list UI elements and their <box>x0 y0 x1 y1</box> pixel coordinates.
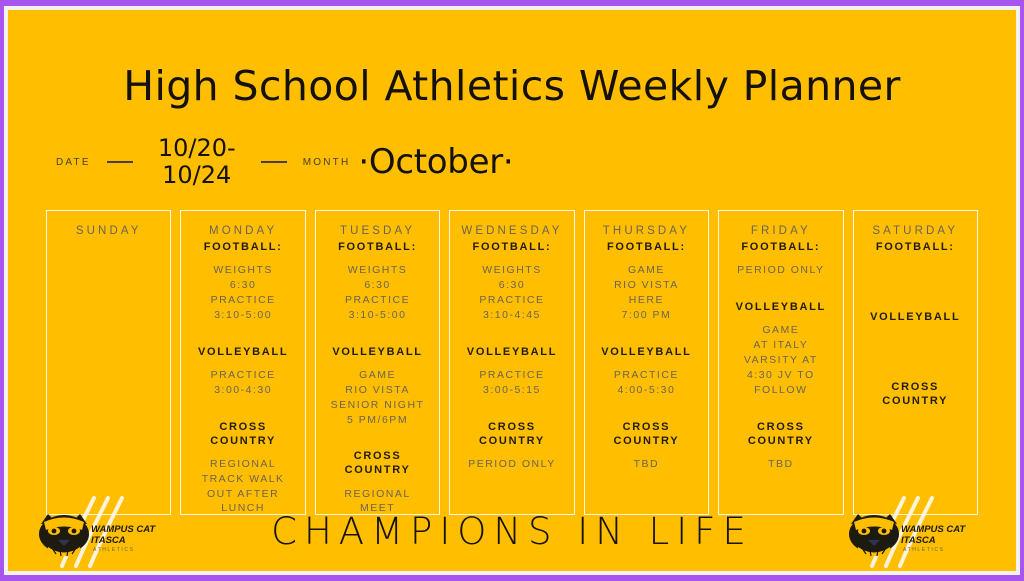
day-column-sunday[interactable]: SUNDAY <box>46 210 171 515</box>
frame-band-right <box>1020 0 1024 581</box>
block-gap <box>186 323 299 343</box>
sport-block: VOLLEYBALLPRACTICE 4:00-5:30 <box>590 343 703 418</box>
sport-detail: PRACTICE 3:00-4:30 <box>186 368 299 398</box>
sport-detail: GAME RIO VISTA HERE 7:00 PM <box>590 263 703 323</box>
day-name-label: FRIDAY <box>751 225 811 237</box>
sport-block: FOOTBALL:WEIGHTS 6:30 PRACTICE 3:10-5:00 <box>321 240 434 343</box>
block-gap <box>321 427 434 447</box>
sport-block: VOLLEYBALLGAME RIO VISTA SENIOR NIGHT 5 … <box>321 343 434 448</box>
day-column-saturday[interactable]: SATURDAYFOOTBALL:VOLLEYBALLCROSS COUNTRY <box>853 210 978 515</box>
sport-heading: FOOTBALL: <box>590 240 703 254</box>
block-gap <box>455 323 568 343</box>
day-name-label: THURSDAY <box>603 225 690 237</box>
day-column-thursday[interactable]: THURSDAYFOOTBALL:GAME RIO VISTA HERE 7:0… <box>584 210 709 515</box>
sport-heading: VOLLEYBALL <box>859 310 972 324</box>
sport-block: CROSS COUNTRY <box>859 378 972 442</box>
sport-block-empty-spacer <box>859 324 972 358</box>
sport-heading: CROSS COUNTRY <box>590 420 703 448</box>
month-label: MONTH <box>303 157 351 168</box>
sport-heading: VOLLEYBALL <box>455 345 568 359</box>
sport-block: FOOTBALL: <box>859 240 972 308</box>
sport-block: VOLLEYBALLPRACTICE 3:00-4:30 <box>186 343 299 418</box>
sport-heading: FOOTBALL: <box>186 240 299 254</box>
weekly-planner-poster: High School Athletics Weekly Planner DAT… <box>0 0 1024 581</box>
date-label: DATE <box>56 157 91 168</box>
logo-line1-text: WAMPUS CAT <box>901 524 966 535</box>
date-value: 10/20- 10/24 <box>149 135 245 189</box>
date-month-row: DATE 10/20- 10/24 MONTH ·October· <box>56 132 513 192</box>
day-column-tuesday[interactable]: TUESDAYFOOTBALL:WEIGHTS 6:30 PRACTICE 3:… <box>315 210 440 515</box>
sport-heading: CROSS COUNTRY <box>186 420 299 448</box>
logo-line3-text: ATHLETICS <box>93 547 135 553</box>
sport-block: VOLLEYBALLPRACTICE 3:00-5:15 <box>455 343 568 418</box>
sport-detail: PERIOD ONLY <box>724 263 837 278</box>
block-gap <box>859 288 972 308</box>
block-gap <box>455 398 568 418</box>
frame-band-top <box>0 0 1024 6</box>
sport-heading: CROSS COUNTRY <box>321 449 434 477</box>
month-value: ·October· <box>358 142 513 182</box>
sport-block: VOLLEYBALLGAME AT ITALY VARSITY AT 4:30 … <box>724 298 837 418</box>
sport-block: FOOTBALL:GAME RIO VISTA HERE 7:00 PM <box>590 240 703 343</box>
day-column-friday[interactable]: FRIDAYFOOTBALL:PERIOD ONLYVOLLEYBALLGAME… <box>718 210 843 515</box>
sport-heading: FOOTBALL: <box>724 240 837 254</box>
page-title: High School Athletics Weekly Planner <box>8 62 1016 110</box>
block-gap <box>590 398 703 418</box>
frame-band-bottom <box>0 575 1024 581</box>
poster-card: High School Athletics Weekly Planner DAT… <box>8 10 1016 571</box>
sport-detail: WEIGHTS 6:30 PRACTICE 3:10-5:00 <box>321 263 434 323</box>
date-divider-dash <box>107 161 133 163</box>
sport-block: FOOTBALL:WEIGHTS 6:30 PRACTICE 3:10-4:45 <box>455 240 568 343</box>
sport-heading: FOOTBALL: <box>455 240 568 254</box>
sport-block: CROSS COUNTRYTBD <box>590 418 703 472</box>
day-name-label: SATURDAY <box>872 225 958 237</box>
sport-block-empty-spacer <box>859 254 972 288</box>
sport-heading: VOLLEYBALL <box>186 345 299 359</box>
sport-heading: FOOTBALL: <box>859 240 972 254</box>
logo-line2-text: ITASCA <box>91 535 126 546</box>
block-gap <box>321 323 434 343</box>
sport-heading: VOLLEYBALL <box>321 345 434 359</box>
frame-band-left <box>0 0 4 581</box>
sport-detail: TBD <box>590 457 703 472</box>
day-name-label: TUESDAY <box>340 225 415 237</box>
logo-line1-text: WAMPUS CAT <box>91 524 156 535</box>
day-name-label: WEDNESDAY <box>461 225 562 237</box>
sport-heading: CROSS COUNTRY <box>455 420 568 448</box>
sport-block: CROSS COUNTRYPERIOD ONLY <box>455 418 568 472</box>
school-logo-left: WAMPUS CAT ITASCA ATHLETICS <box>36 496 166 570</box>
logo-line2-text: ITASCA <box>901 535 936 546</box>
sport-block: FOOTBALL:PERIOD ONLY <box>724 240 837 298</box>
sport-block-empty-spacer <box>859 408 972 442</box>
sport-detail: WEIGHTS 6:30 PRACTICE 3:10-5:00 <box>186 263 299 323</box>
sport-heading: VOLLEYBALL <box>724 300 837 314</box>
day-column-monday[interactable]: MONDAYFOOTBALL:WEIGHTS 6:30 PRACTICE 3:1… <box>180 210 305 515</box>
sport-block: FOOTBALL:WEIGHTS 6:30 PRACTICE 3:10-5:00 <box>186 240 299 343</box>
block-gap <box>724 398 837 418</box>
day-name-label: SUNDAY <box>76 225 142 237</box>
sport-heading: CROSS COUNTRY <box>724 420 837 448</box>
day-column-wednesday[interactable]: WEDNESDAYFOOTBALL:WEIGHTS 6:30 PRACTICE … <box>449 210 574 515</box>
block-gap <box>724 278 837 298</box>
sport-heading: FOOTBALL: <box>321 240 434 254</box>
sport-detail: PERIOD ONLY <box>455 457 568 472</box>
sport-detail: REGIONAL TRACK WALK OUT AFTER LUNCH <box>186 457 299 515</box>
week-grid: SUNDAYMONDAYFOOTBALL:WEIGHTS 6:30 PRACTI… <box>46 210 978 515</box>
sport-block: VOLLEYBALL <box>859 308 972 378</box>
sport-heading: CROSS COUNTRY <box>859 380 972 408</box>
sport-block: CROSS COUNTRYTBD <box>724 418 837 472</box>
block-gap <box>590 323 703 343</box>
month-divider-dash <box>261 161 287 163</box>
day-name-label: MONDAY <box>209 225 277 237</box>
block-gap <box>186 398 299 418</box>
logo-line3-text: ATHLETICS <box>903 547 945 553</box>
block-gap <box>859 358 972 378</box>
sport-detail: PRACTICE 3:00-5:15 <box>455 368 568 398</box>
sport-detail: PRACTICE 4:00-5:30 <box>590 368 703 398</box>
sport-block: CROSS COUNTRYREGIONAL TRACK WALK OUT AFT… <box>186 418 299 515</box>
sport-detail: WEIGHTS 6:30 PRACTICE 3:10-4:45 <box>455 263 568 323</box>
sport-detail: GAME RIO VISTA SENIOR NIGHT 5 PM/6PM <box>321 368 434 428</box>
sport-heading: VOLLEYBALL <box>590 345 703 359</box>
sport-block: CROSS COUNTRYREGIONAL MEET UTA GIRLS 11A… <box>321 447 434 515</box>
school-logo-right: WAMPUS CAT ITASCA ATHLETICS <box>846 496 976 570</box>
sport-detail: GAME AT ITALY VARSITY AT 4:30 JV TO FOLL… <box>724 323 837 398</box>
sport-detail: TBD <box>724 457 837 472</box>
